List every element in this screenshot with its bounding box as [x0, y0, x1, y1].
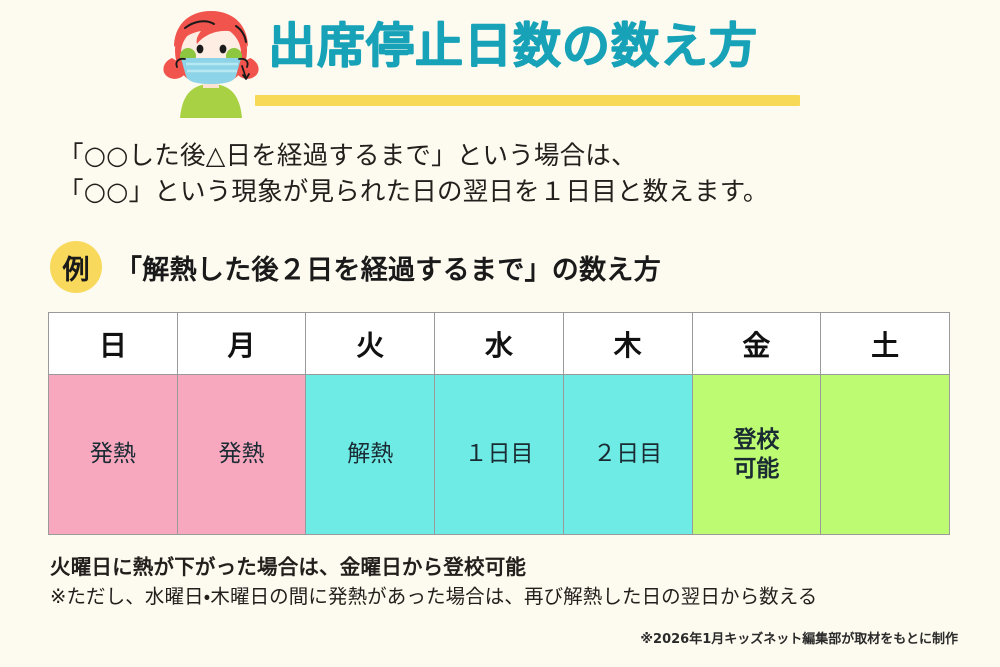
status-cell-wed: １日目: [435, 375, 564, 535]
title-underline-bar: [255, 95, 800, 106]
status-label-wed: １日目: [464, 440, 533, 469]
weekday-header-tue: 火: [306, 313, 435, 375]
status-cell-fri: 登校 可能: [692, 375, 821, 535]
example-heading: 例 「解熱した後２日を経過するまで」の数え方: [50, 240, 661, 294]
weekday-header-fri: 金: [692, 313, 821, 375]
weekday-schedule-table: 日 月 火 水 木 金 土 発熱 発熱 解熱 １日目 ２日目: [48, 312, 950, 535]
status-label-sun: 発熱: [90, 440, 136, 469]
header-banner: 出席停止日数の数え方: [0, 0, 1000, 122]
note-sub: ※ただし、水曜日・木曜日の間に発熱があった場合は、再び解熱した日の翌日から数える: [50, 582, 960, 612]
page-title: 出席停止日数の数え方: [268, 22, 758, 70]
table-header-row: 日 月 火 水 木 金 土: [49, 313, 950, 375]
example-badge: 例: [50, 241, 102, 293]
note-main: 火曜日に熱が下がった場合は、金曜日から登校可能: [50, 552, 960, 582]
status-cell-sun: 発熱: [49, 375, 178, 535]
status-label-fri: 登校 可能: [733, 426, 779, 484]
status-cell-tue: 解熱: [306, 375, 435, 535]
weekday-header-wed: 水: [435, 313, 564, 375]
status-cell-mon: 発熱: [177, 375, 306, 535]
footer-notes: 火曜日に熱が下がった場合は、金曜日から登校可能 ※ただし、水曜日・木曜日の間に発…: [50, 552, 960, 612]
masked-girl-illustration: [158, 6, 264, 118]
weekday-header-mon: 月: [177, 313, 306, 375]
status-cell-sat: [821, 375, 950, 535]
weekday-header-thu: 木: [563, 313, 692, 375]
status-label-mon: 発熱: [219, 440, 265, 469]
intro-line-2: 「○○」という現象が見られた日の翌日を１日目と数えます。: [58, 174, 958, 210]
intro-paragraph: 「○○した後△日を経過するまで」という場合は、 「○○」という現象が見られた日の…: [58, 138, 958, 210]
example-heading-text: 「解熱した後２日を経過するまで」の数え方: [115, 248, 661, 287]
credit-line: ※2026年1月キッズネット編集部が取材をもとに制作: [640, 628, 958, 647]
status-label-thu: ２日目: [593, 440, 662, 469]
status-label-tue: 解熱: [347, 440, 393, 469]
table-status-row: 発熱 発熱 解熱 １日目 ２日目 登校 可能: [49, 375, 950, 535]
weekday-header-sun: 日: [49, 313, 178, 375]
status-cell-thu: ２日目: [563, 375, 692, 535]
intro-line-1: 「○○した後△日を経過するまで」という場合は、: [58, 138, 958, 174]
weekday-header-sat: 土: [821, 313, 950, 375]
